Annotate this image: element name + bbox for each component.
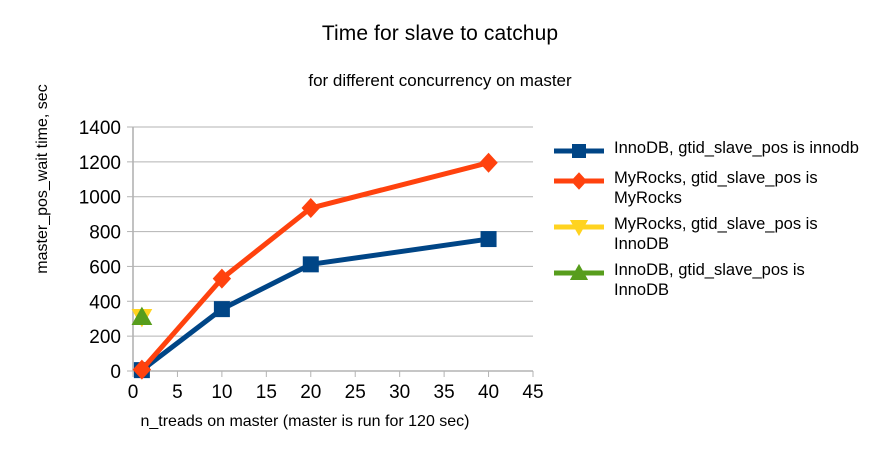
x-tick-label: 5 [172,382,183,400]
data-point-marker [303,256,319,272]
x-tick-label: 15 [256,382,277,400]
y-tick-label: 600 [89,257,121,278]
y-tick-label: 200 [89,327,121,348]
x-tick-label: 25 [345,382,366,400]
legend-label: InnoDB, gtid_slave_pos is InnoDB [614,260,864,300]
x-tick-label: 10 [211,382,232,400]
x-tick-label: 30 [389,382,410,400]
x-tick-label: 40 [478,382,499,400]
plot-svg: 0200400600800100012001400 05101520253035… [0,0,560,400]
legend-swatch [552,262,606,284]
chart-legend: InnoDB, gtid_slave_pos is innodbMyRocks,… [552,138,880,306]
chart-figure: Time for slave to catchup for different … [0,0,880,459]
y-tick-label: 800 [89,223,121,244]
legend-swatch [552,216,606,238]
data-point-marker [572,144,586,158]
data-point-marker [481,231,497,247]
data-series [134,231,497,378]
x-tick-label: 35 [434,382,455,400]
gridlines [133,127,533,371]
x-tick-label: 45 [522,382,543,400]
y-axis-ticks: 0200400600800100012001400 [79,118,133,383]
x-axis-label: n_treads on master (master is run for 12… [60,413,550,431]
x-axis-ticks: 051015202530354045 [128,371,544,400]
legend-swatch [552,140,606,162]
legend-swatch [552,170,606,192]
legend-label: InnoDB, gtid_slave_pos is innodb [614,138,859,158]
legend-item: InnoDB, gtid_slave_pos is InnoDB [552,260,880,300]
data-point-marker [214,301,230,317]
y-tick-label: 400 [89,292,121,313]
data-point-marker [479,153,497,173]
y-tick-label: 1400 [79,118,121,139]
legend-label: MyRocks, gtid_slave_pos is InnoDB [614,214,864,254]
legend-item: InnoDB, gtid_slave_pos is innodb [552,138,880,162]
plot-area: 0200400600800100012001400 05101520253035… [0,0,560,459]
x-tick-label: 0 [128,382,139,400]
legend-item: MyRocks, gtid_slave_pos is MyRocks [552,168,880,208]
legend-label: MyRocks, gtid_slave_pos is MyRocks [614,168,864,208]
y-tick-label: 1000 [79,188,121,209]
y-tick-label: 1200 [79,153,121,174]
y-axis-label: master_pos_wait time, sec [34,64,52,294]
legend-item: MyRocks, gtid_slave_pos is InnoDB [552,214,880,254]
axis-lines [133,127,533,371]
x-tick-label: 20 [300,382,321,400]
data-point-marker [571,172,587,190]
y-tick-label: 0 [110,362,121,383]
